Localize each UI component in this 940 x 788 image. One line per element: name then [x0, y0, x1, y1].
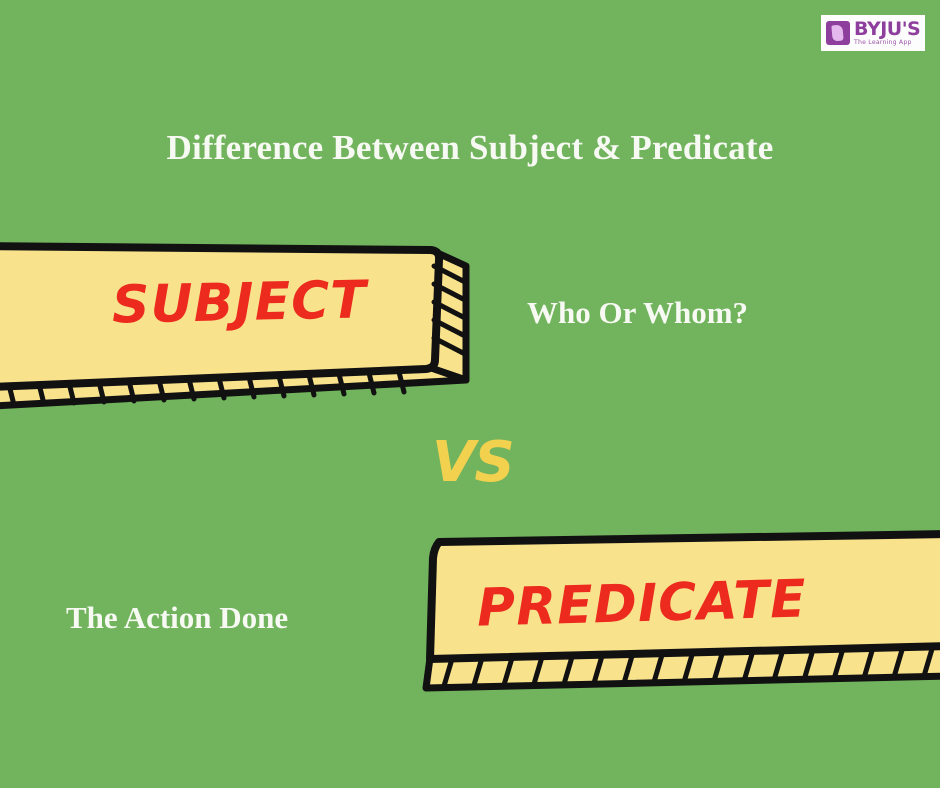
logo-tagline: The Learning App [854, 40, 920, 46]
page-title: Difference Between Subject & Predicate [0, 128, 940, 168]
versus-label: VS [432, 435, 514, 491]
subject-banner-label: SUBJECT [111, 274, 367, 331]
predicate-caption: The Action Done [66, 600, 288, 636]
byjus-logo: BYJU'S The Learning App [821, 15, 925, 51]
logo-brand-name: BYJU'S [854, 20, 920, 39]
infographic-canvas: BYJU'S The Learning App Difference Betwe… [0, 0, 940, 788]
predicate-banner-label: PREDICATE [476, 573, 807, 634]
logo-text-block: BYJU'S The Learning App [854, 20, 920, 47]
byjus-book-mark-icon [826, 21, 850, 45]
subject-caption: Who Or Whom? [527, 295, 748, 331]
